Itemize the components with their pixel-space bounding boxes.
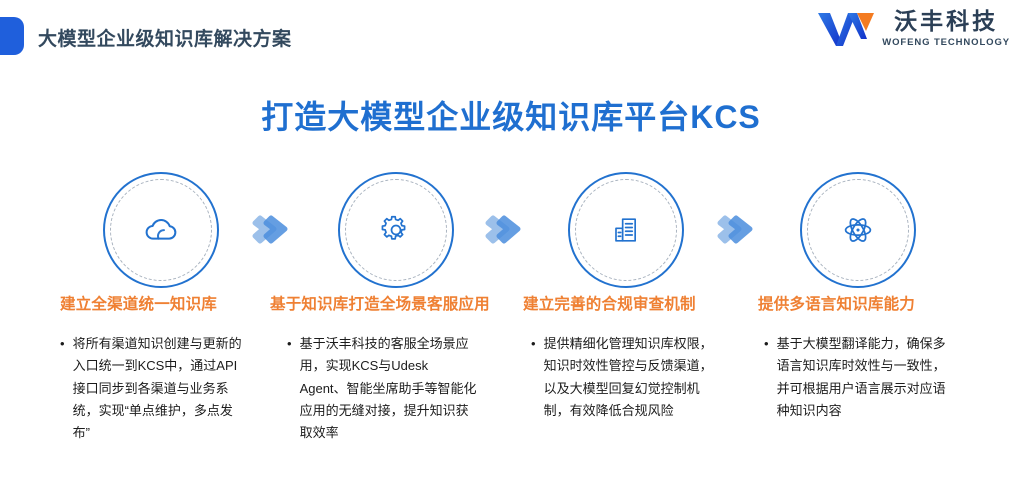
flow-diagram: [0, 172, 1022, 290]
feature-heading: 建立全渠道统一知识库: [60, 292, 260, 314]
bullet-marker: •: [764, 333, 769, 422]
page-title: 大模型企业级知识库解决方案: [38, 24, 292, 51]
feature-heading: 建立完善的合规审查机制: [523, 292, 738, 314]
main-heading: 打造大模型企业级知识库平台KCS: [0, 92, 1022, 138]
bullet-marker: •: [60, 333, 65, 445]
flow-step-1: [103, 172, 219, 288]
logo-company-name-cn: 沃丰科技: [894, 10, 998, 33]
feature-body: • 将所有渠道知识创建与更新的入口统一到KCS中，通过API接口同步到各渠道与业…: [60, 333, 250, 445]
flow-step-2: [338, 172, 454, 288]
gear-icon: [338, 172, 454, 288]
feature-heading: 提供多语言知识库能力: [758, 292, 958, 314]
logo-text: 沃丰科技 WOFENG TECHNOLOGY: [882, 10, 1010, 48]
header-accent-bar: [0, 17, 24, 55]
feature-body: • 提供精细化管理知识库权限，知识时效性管控与反馈渠道，以及大模型回复幻觉控制机…: [531, 333, 721, 422]
flow-arrow-1: [252, 214, 298, 246]
flow-step-3: [568, 172, 684, 288]
feature-body-text: 将所有渠道知识创建与更新的入口统一到KCS中，通过API接口同步到各渠道与业务系…: [73, 333, 250, 445]
feature-column-2: 基于知识库打造全场景客服应用 • 基于沃丰科技的客服全场景应用，实现KCS与Ud…: [270, 292, 500, 445]
feature-body-text: 基于大模型翻译能力，确保多语言知识库时效性与一致性，并可根据用户语言展示对应语种…: [777, 333, 954, 422]
flow-arrow-2: [485, 214, 531, 246]
feature-body: • 基于沃丰科技的客服全场景应用，实现KCS与Udesk Agent、智能坐席助…: [287, 333, 477, 445]
feature-heading: 基于知识库打造全场景客服应用: [270, 292, 500, 314]
cloud-icon: [103, 172, 219, 288]
bullet-marker: •: [287, 333, 292, 445]
flow-arrow-3: [717, 214, 763, 246]
bullet-marker: •: [531, 333, 536, 422]
feature-columns: 建立全渠道统一知识库 • 将所有渠道知识创建与更新的入口统一到KCS中，通过AP…: [0, 292, 1022, 472]
flow-step-4: [800, 172, 916, 288]
feature-column-3: 建立完善的合规审查机制 • 提供精细化管理知识库权限，知识时效性管控与反馈渠道，…: [523, 292, 738, 422]
feature-column-4: 提供多语言知识库能力 • 基于大模型翻译能力，确保多语言知识库时效性与一致性，并…: [758, 292, 958, 422]
feature-column-1: 建立全渠道统一知识库 • 将所有渠道知识创建与更新的入口统一到KCS中，通过AP…: [60, 292, 260, 445]
page-header: 大模型企业级知识库解决方案 沃丰科技 WOFENG TECHNOLOGY: [0, 0, 1022, 72]
feature-body: • 基于大模型翻译能力，确保多语言知识库时效性与一致性，并可根据用户语言展示对应…: [764, 333, 954, 422]
atom-icon: [800, 172, 916, 288]
wofeng-w-logo-icon: [817, 10, 875, 48]
logo-company-name-en: WOFENG TECHNOLOGY: [882, 38, 1010, 48]
building-icon: [568, 172, 684, 288]
feature-body-text: 提供精细化管理知识库权限，知识时效性管控与反馈渠道，以及大模型回复幻觉控制机制，…: [544, 333, 721, 422]
company-logo: 沃丰科技 WOFENG TECHNOLOGY: [817, 10, 1010, 48]
feature-body-text: 基于沃丰科技的客服全场景应用，实现KCS与Udesk Agent、智能坐席助手等…: [300, 333, 477, 445]
